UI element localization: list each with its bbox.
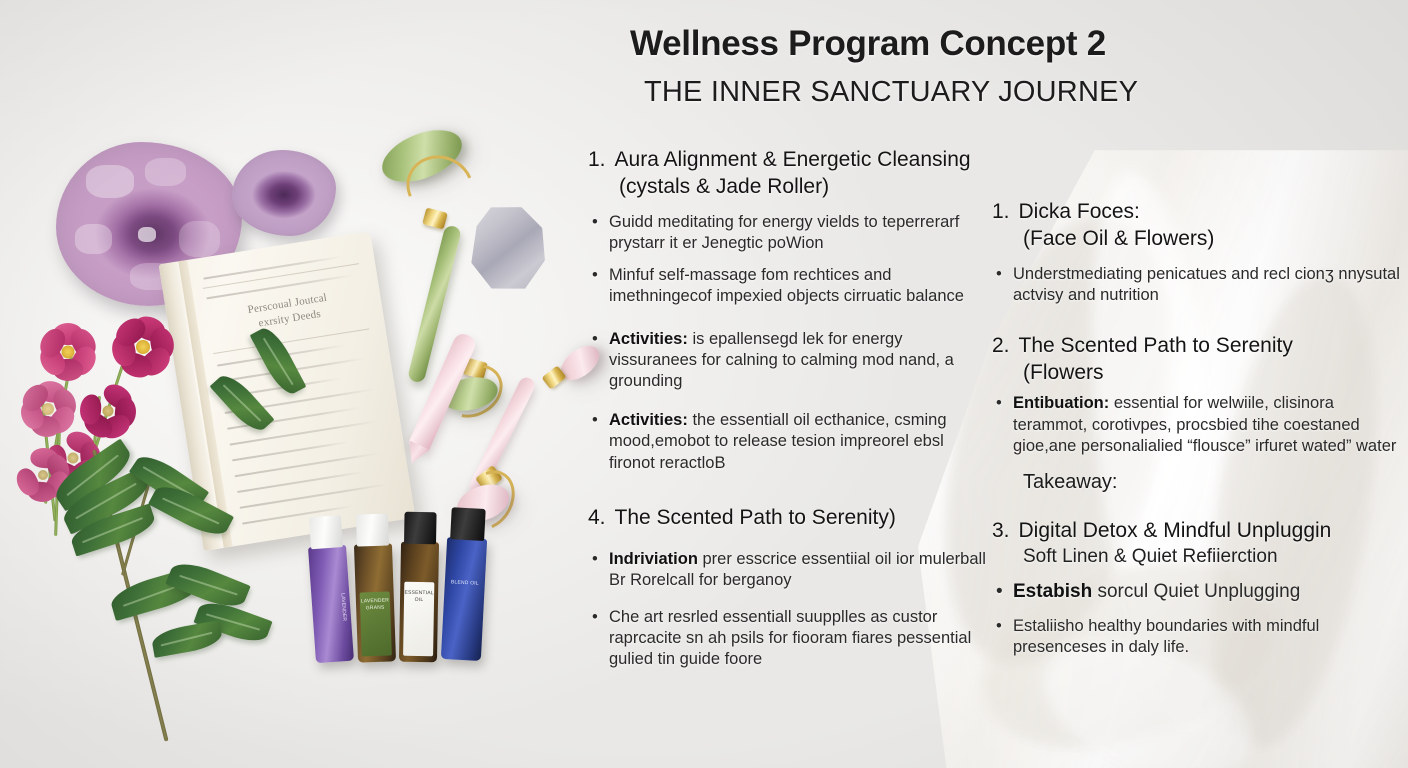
list-item-text: Guidd meditating for energy vields to te… [609,212,988,254]
list-item: • Activities: the essentiall oil ecthani… [588,410,988,473]
takeaway-label: Takeaway: [992,469,1408,495]
section-right-2: 2. The Scented Path to Serenity (Flowers… [992,332,1408,495]
bullet-dot-icon: • [588,212,609,254]
section-heading: 1. Dicka Foces: [992,198,1408,225]
bullet-dot-icon: • [588,607,609,670]
section-title: Aura Alignment & Energetic Cleansing [615,146,988,173]
section-title: Digital Detox & Mindful Unpluggin [1019,517,1408,544]
list-item-text: Estaliisho healthy boundaries with mindf… [1013,616,1408,658]
section-number: 1. [588,146,606,173]
list-item-text: Minfuf self-massage fom rechtices and im… [609,265,988,307]
list-item-text: Che art resrled essentiall suupplles as … [609,607,988,670]
list-item: • Entibuation: essential for welwiile, c… [992,393,1408,456]
section-title: The Scented Path to Serenity) [615,504,988,531]
list-item: • Understmediating penicatues and recl c… [992,264,1408,306]
section-number: 1. [992,198,1010,225]
bullet-dot-icon: • [992,264,1013,306]
section-number: 2. [992,332,1010,359]
list-item-lead: Entibuation: [1013,394,1109,412]
list-item-lead: Activities: [609,330,688,348]
section-heading: 4. The Scented Path to Serenity) [588,504,988,531]
left-content-column: 1. Aura Alignment & Energetic Cleansing … [588,146,988,685]
section-heading: 1. Aura Alignment & Energetic Cleansing [588,146,988,173]
list-item-lead: Activities: [609,411,688,429]
right-content-column: 1. Dicka Foces: (Face Oil & Flowers) • U… [992,198,1408,673]
list-item-lead: Estabish [1013,581,1092,602]
list-item: • Estabish sorcul Quiet Unplugging [992,580,1408,604]
list-item-text: Understmediating penicatues and recl cio… [1013,264,1408,306]
section-title: Dicka Foces: [1019,198,1408,225]
flatlay-wellness-infographic: Perscoual Joutcal exrsity Deeds [0,0,1408,768]
section-heading-line2: (cystals & Jade Roller) [588,173,988,200]
page-title: Wellness Program Concept 2 [630,24,1106,64]
list-item: • Minfuf self-massage fom rechtices and … [588,265,988,307]
list-item-text: Indriviation prer esscrice essentiial oi… [609,549,988,591]
section-right-3: 3. Digital Detox & Mindful Unpluggin Sof… [992,517,1408,659]
section-heading-line2: (Face Oil & Flowers) [992,225,1408,252]
section-subtitle: (Face Oil & Flowers) [1023,225,1214,252]
list-item-text: Activities: is epallensegd lek for energ… [609,329,988,392]
list-item-lead: Indriviation [609,550,698,568]
section-right-1: 1. Dicka Foces: (Face Oil & Flowers) • U… [992,198,1408,306]
bullet-dot-icon: • [588,265,609,307]
list-item: • Che art resrled essentiall suupplles a… [588,607,988,670]
section-subtitle: (cystals & Jade Roller) [619,173,829,200]
section-subtitle: (Flowers [1023,359,1104,386]
list-item-text: Entibuation: essential for welwiile, cli… [1013,393,1408,456]
section-heading-line2: (Flowers [992,359,1408,386]
section-subtitle: Soft Linen & Quiet Refiierction [992,546,1408,568]
section-left-2: 4. The Scented Path to Serenity) • Indri… [588,504,988,671]
bullet-dot-icon: • [992,393,1013,456]
bullet-dot-icon: • [588,410,609,473]
section-heading: 2. The Scented Path to Serenity [992,332,1408,359]
section-title: The Scented Path to Serenity [1019,332,1408,359]
page-subtitle: THE INNER SANCTUARY JOURNEY [644,76,1138,109]
section-left-1: 1. Aura Alignment & Energetic Cleansing … [588,146,988,474]
list-item-text: Activities: the essentiall oil ecthanice… [609,410,988,473]
list-item: • Activities: is epallensegd lek for ene… [588,329,988,392]
list-item: • Guidd meditating for energy vields to … [588,212,988,254]
bullet-dot-icon: • [992,616,1013,658]
section-number: 4. [588,504,606,531]
list-item-text: Estabish sorcul Quiet Unplugging [1013,580,1408,604]
list-item: • Estaliisho healthy boundaries with min… [992,616,1408,658]
bullet-dot-icon: • [588,329,609,392]
list-item: • Indriviation prer esscrice essentiial … [588,549,988,591]
section-heading: 3. Digital Detox & Mindful Unpluggin [992,517,1408,544]
section-number: 3. [992,517,1010,544]
bullet-dot-icon: • [992,580,1013,604]
bullet-dot-icon: • [588,549,609,591]
